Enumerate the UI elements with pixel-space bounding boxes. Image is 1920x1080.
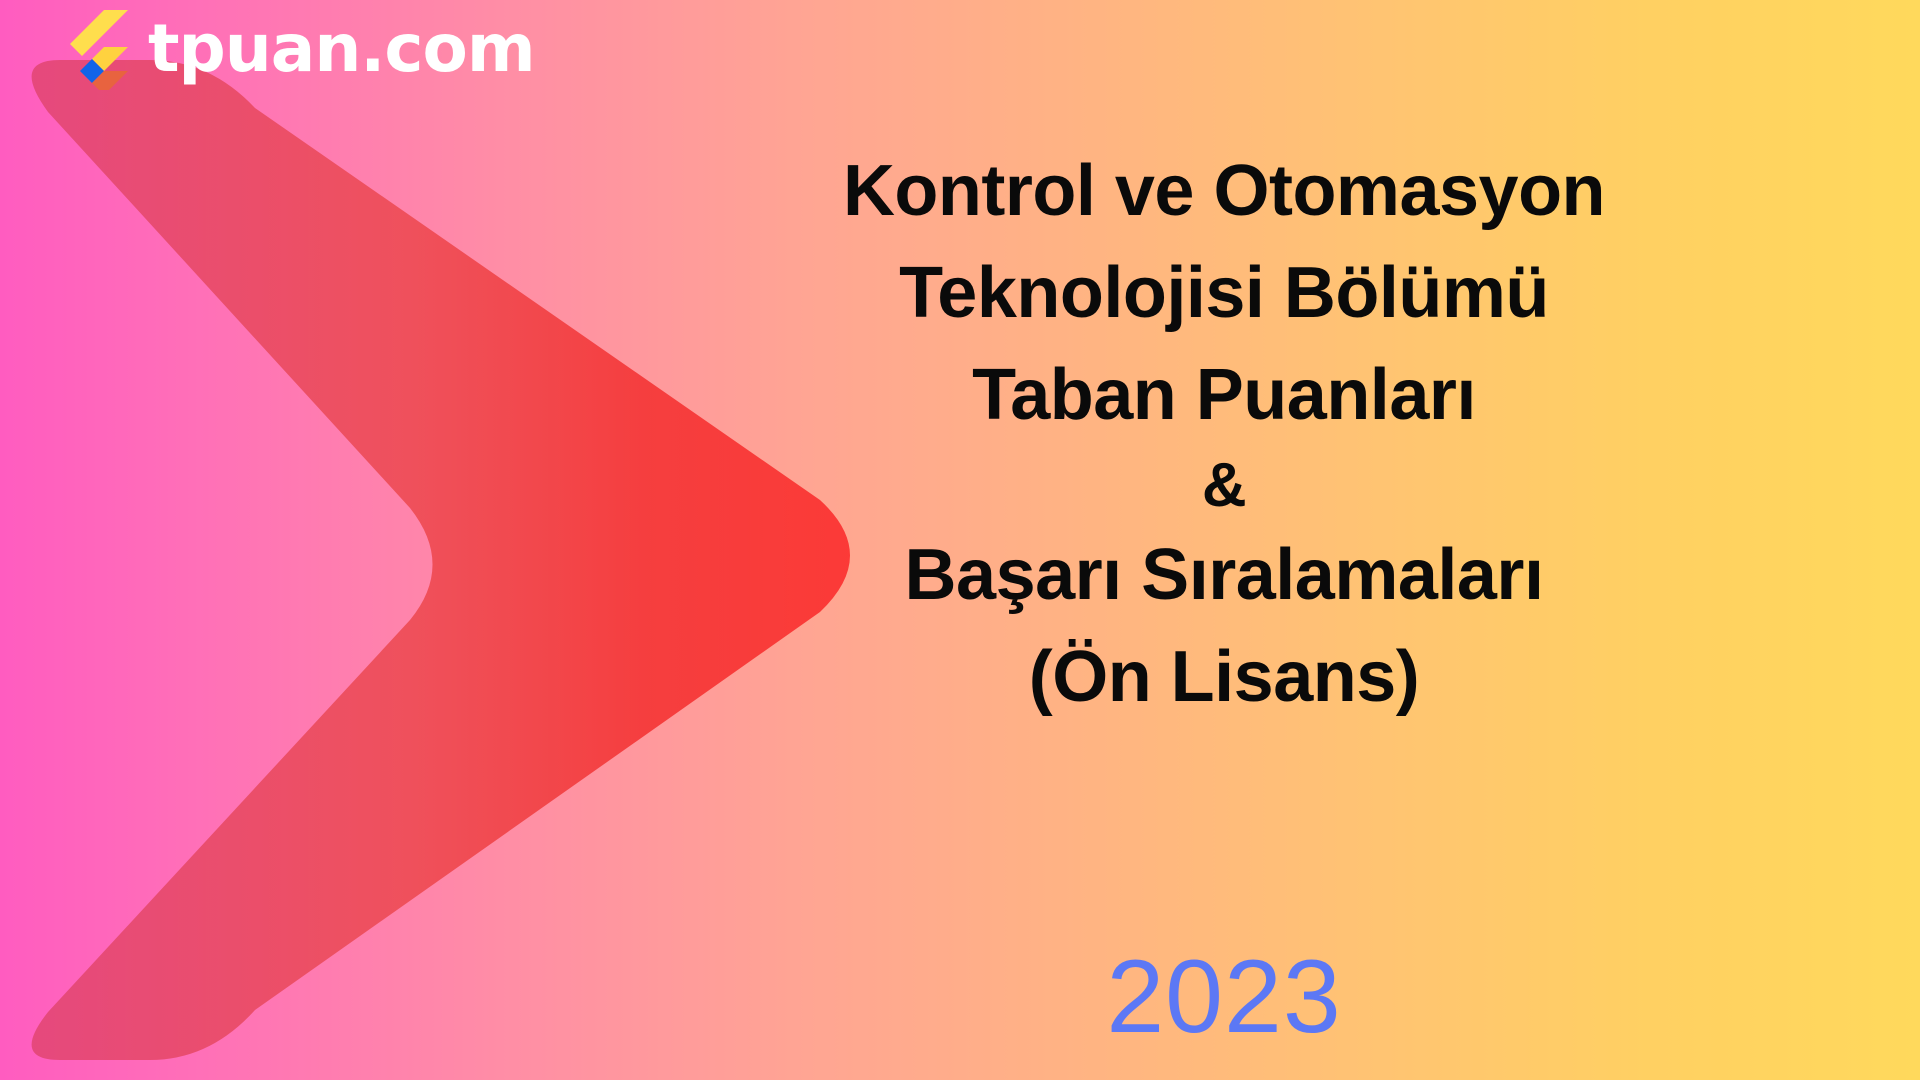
title-line-5: Başarı Sıralamaları — [600, 524, 1848, 626]
poster-title: Kontrol ve Otomasyon Teknolojisi Bölümü … — [600, 140, 1848, 729]
flutter-logo-icon — [58, 8, 130, 90]
title-line-6: (Ön Lisans) — [600, 626, 1848, 728]
title-line-3: Taban Puanları — [600, 344, 1848, 446]
year-label: 2023 — [1106, 939, 1341, 1055]
year-block: 2023 — [600, 940, 1848, 1054]
title-line-2: Teknolojisi Bölümü — [600, 242, 1848, 344]
title-line-1: Kontrol ve Otomasyon — [600, 140, 1848, 242]
site-logo[interactable]: tpuan.com — [58, 8, 535, 90]
title-line-ampersand: & — [600, 447, 1848, 525]
poster-canvas: tpuan.com Kontrol ve Otomasyon Teknoloji… — [0, 0, 1920, 1080]
site-logo-text: tpuan.com — [148, 16, 535, 82]
